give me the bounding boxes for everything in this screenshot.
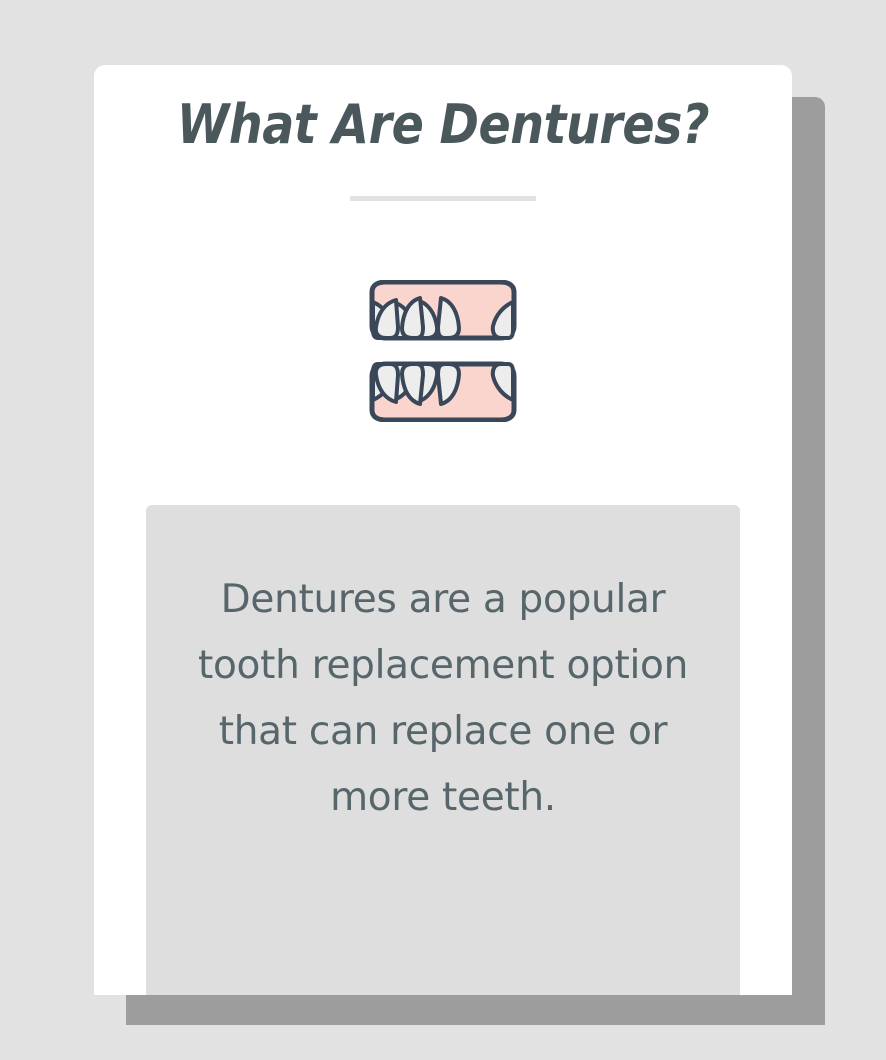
dentures-icon [362,280,524,422]
title-divider [350,196,536,201]
page-title: What Are Dentures? [136,93,750,156]
slide-canvas: What Are Dentures? [0,0,886,1060]
lower-denture-arch [372,364,514,420]
info-card: What Are Dentures? [94,65,792,995]
content-panel: Dentures are a popular tooth replacement… [146,505,740,995]
upper-denture-arch [372,282,514,338]
body-text: Dentures are a popular tooth replacement… [180,567,706,831]
